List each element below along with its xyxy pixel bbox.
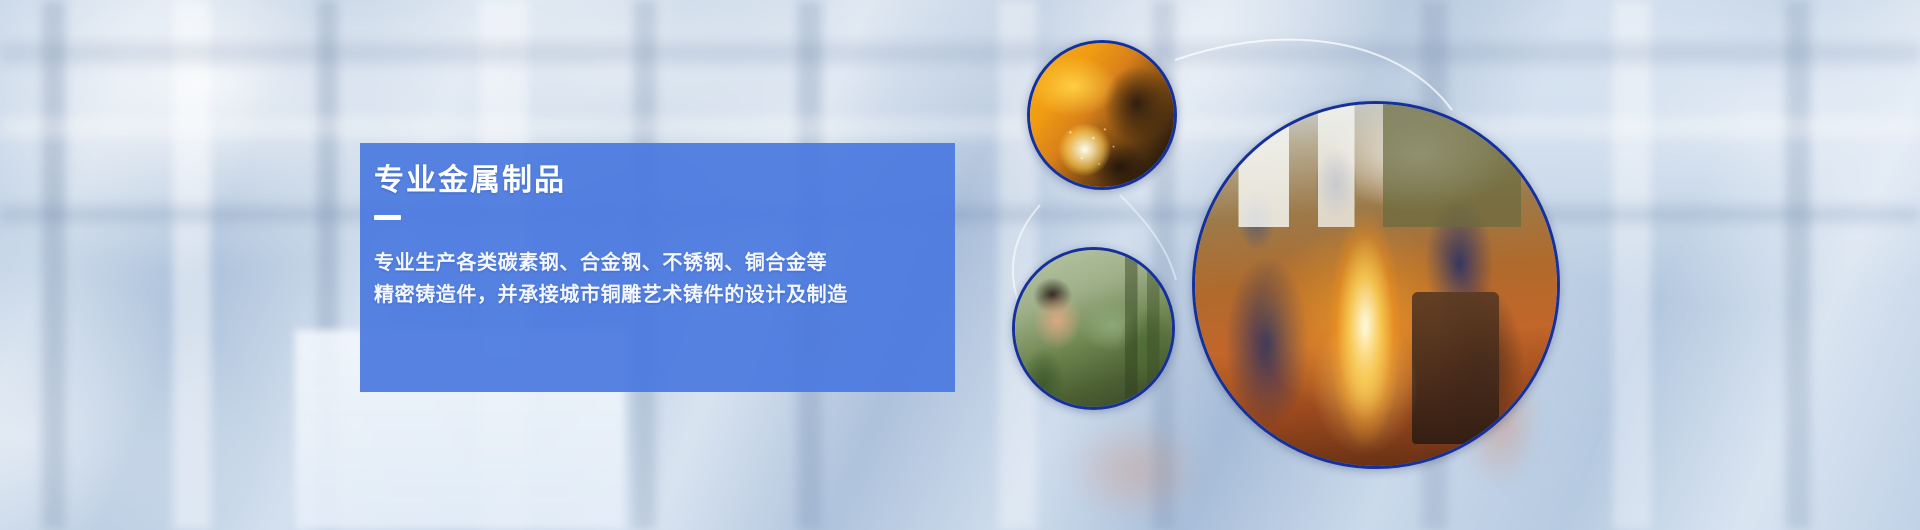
spark-particles-overlay bbox=[1030, 43, 1174, 187]
banner-description: 专业生产各类碳素钢、合金钢、不锈钢、铜合金等 精密铸造件，并承接城市铜雕艺术铸件… bbox=[374, 247, 955, 312]
welding-sparks-photo bbox=[1027, 40, 1177, 190]
foundry-photo-molten-glow bbox=[1195, 104, 1557, 466]
title-divider-rule bbox=[374, 215, 401, 220]
banner-title: 专业金属制品 bbox=[374, 164, 955, 199]
headline-panel-content: 专业金属制品 专业生产各类碳素钢、合金钢、不锈钢、铜合金等 精密铸造件，并承接城… bbox=[367, 143, 955, 392]
foundry-pour-photo bbox=[1192, 101, 1560, 469]
hero-banner: 专业金属制品 专业生产各类碳素钢、合金钢、不锈钢、铜合金等 精密铸造件，并承接城… bbox=[0, 0, 1920, 530]
banner-description-line-1: 专业生产各类碳素钢、合金钢、不锈钢、铜合金等 bbox=[374, 247, 955, 279]
banner-description-line-2: 精密铸造件，并承接城市铜雕艺术铸件的设计及制造 bbox=[374, 279, 955, 311]
worker-photo-detail-overlay bbox=[1015, 250, 1172, 407]
worker-assembly-photo bbox=[1012, 247, 1175, 410]
background-haze-overlay bbox=[0, 0, 1920, 530]
